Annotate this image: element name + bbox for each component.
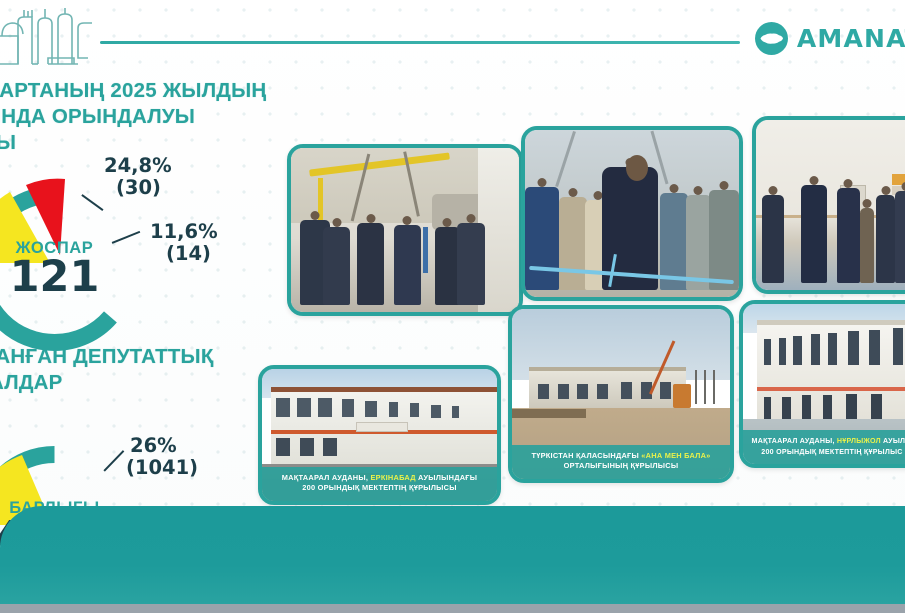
callout-percent: 26% [130, 434, 177, 457]
photo-caption: ТҮРКІСТАН ҚАЛАСЫНДАҒЫ «АНА МЕН БАЛА»ОРТА… [512, 445, 730, 479]
caption-highlight: ЕРКІНАБАД [370, 473, 415, 482]
caption-line2: 200 ОРЫНДЫҚ МЕКТЕПТІҢ ҚҰРЫЛЫСЫ [302, 483, 456, 492]
photo-industrial-visit[interactable] [287, 144, 523, 316]
photo-gymnasium-tour[interactable] [752, 116, 905, 294]
callout-percent: 11,6% [150, 220, 218, 243]
caption-highlight: НҰРЛЫЖОЛ [837, 437, 881, 445]
caption-post: АУЫЛЫНДАҒЫ [416, 473, 477, 482]
left-statistics-column: Л КАРТАНЫҢ 2025 ЖЫЛДЫҢ ЙЫНДА ОРЫНДАЛУЫ А… [0, 78, 300, 157]
caption-post: АУЫЛЫ [881, 437, 905, 445]
callout-yellow-barlygy: 26% (1041) [130, 436, 198, 478]
caption-pre: МАҚТААРАЛ АУДАНЫ, [282, 473, 371, 482]
callout-red-zhospar: 11,6% (14) [150, 222, 218, 264]
header-divider-rule [100, 41, 740, 44]
photo-image [756, 120, 905, 290]
caption-pre: ТҮРКІСТАН ҚАЛАСЫНДАҒЫ [531, 451, 641, 460]
callout-yellow-zhospar: 24,8% (30) [104, 156, 172, 198]
caption-highlight: «АНА МЕН БАЛА» [641, 451, 710, 460]
section-title-roadmap: Л КАРТАНЫҢ 2025 ЖЫЛДЫҢ ЙЫНДА ОРЫНДАЛУЫ А… [0, 78, 300, 157]
callout-count: (14) [166, 244, 218, 264]
chart-zhospar-donut: ЖОСПАР 121 24,8% (30) 11,6% (14) [0, 166, 157, 371]
monument-line-art-logo [0, 6, 106, 72]
photo-image [525, 130, 739, 297]
amanat-brand-logo[interactable]: AMANAT [755, 22, 905, 55]
brand-name: AMANAT [797, 24, 905, 53]
bottom-gray-strip [0, 604, 905, 613]
kazakhstan-map-icon [755, 22, 788, 55]
caption-line2: ОРТАЛЫҒЫНЫҢ ҚҰРЫЛЫСЫ [564, 461, 679, 470]
photo-image [291, 148, 519, 312]
slide-header: AMANAT [0, 0, 905, 78]
photo-erkinabad-school[interactable]: МАҚТААРАЛ АУДАНЫ, ЕРКІНАБАД АУЫЛЫНДАҒЫ20… [258, 365, 501, 505]
photo-ribbon-cutting[interactable] [521, 126, 743, 301]
callout-percent: 24,8% [104, 154, 172, 177]
photo-caption: МАҚТААРАЛ АУДАНЫ, ЕРКІНАБАД АУЫЛЫНДАҒЫ20… [262, 467, 497, 501]
caption-line2: 200 ОРЫНДЫҚ МЕКТЕПТІҢ ҚҰРЫЛЫС [761, 448, 902, 456]
photo-nurlyzhol-school[interactable]: МАҚТААРАЛ АУДАНЫ, НҰРЛЫЖОЛ АУЫЛЫ200 ОРЫН… [739, 300, 905, 468]
callout-count: (1041) [126, 458, 198, 478]
caption-pre: МАҚТААРАЛ АУДАНЫ, [752, 437, 837, 445]
photo-ana-men-bala-center[interactable]: ТҮРКІСТАН ҚАЛАСЫНДАҒЫ «АНА МЕН БАЛА»ОРТА… [508, 305, 734, 483]
callout-count: (30) [116, 178, 172, 198]
photo-caption: МАҚТААРАЛ АУДАНЫ, НҰРЛЫЖОЛ АУЫЛЫ200 ОРЫН… [743, 430, 905, 464]
bottom-teal-band [0, 506, 905, 605]
slide-canvas: AMANAT Л КАРТАНЫҢ 2025 ЖЫЛДЫҢ ЙЫНДА ОРЫН… [0, 0, 905, 613]
